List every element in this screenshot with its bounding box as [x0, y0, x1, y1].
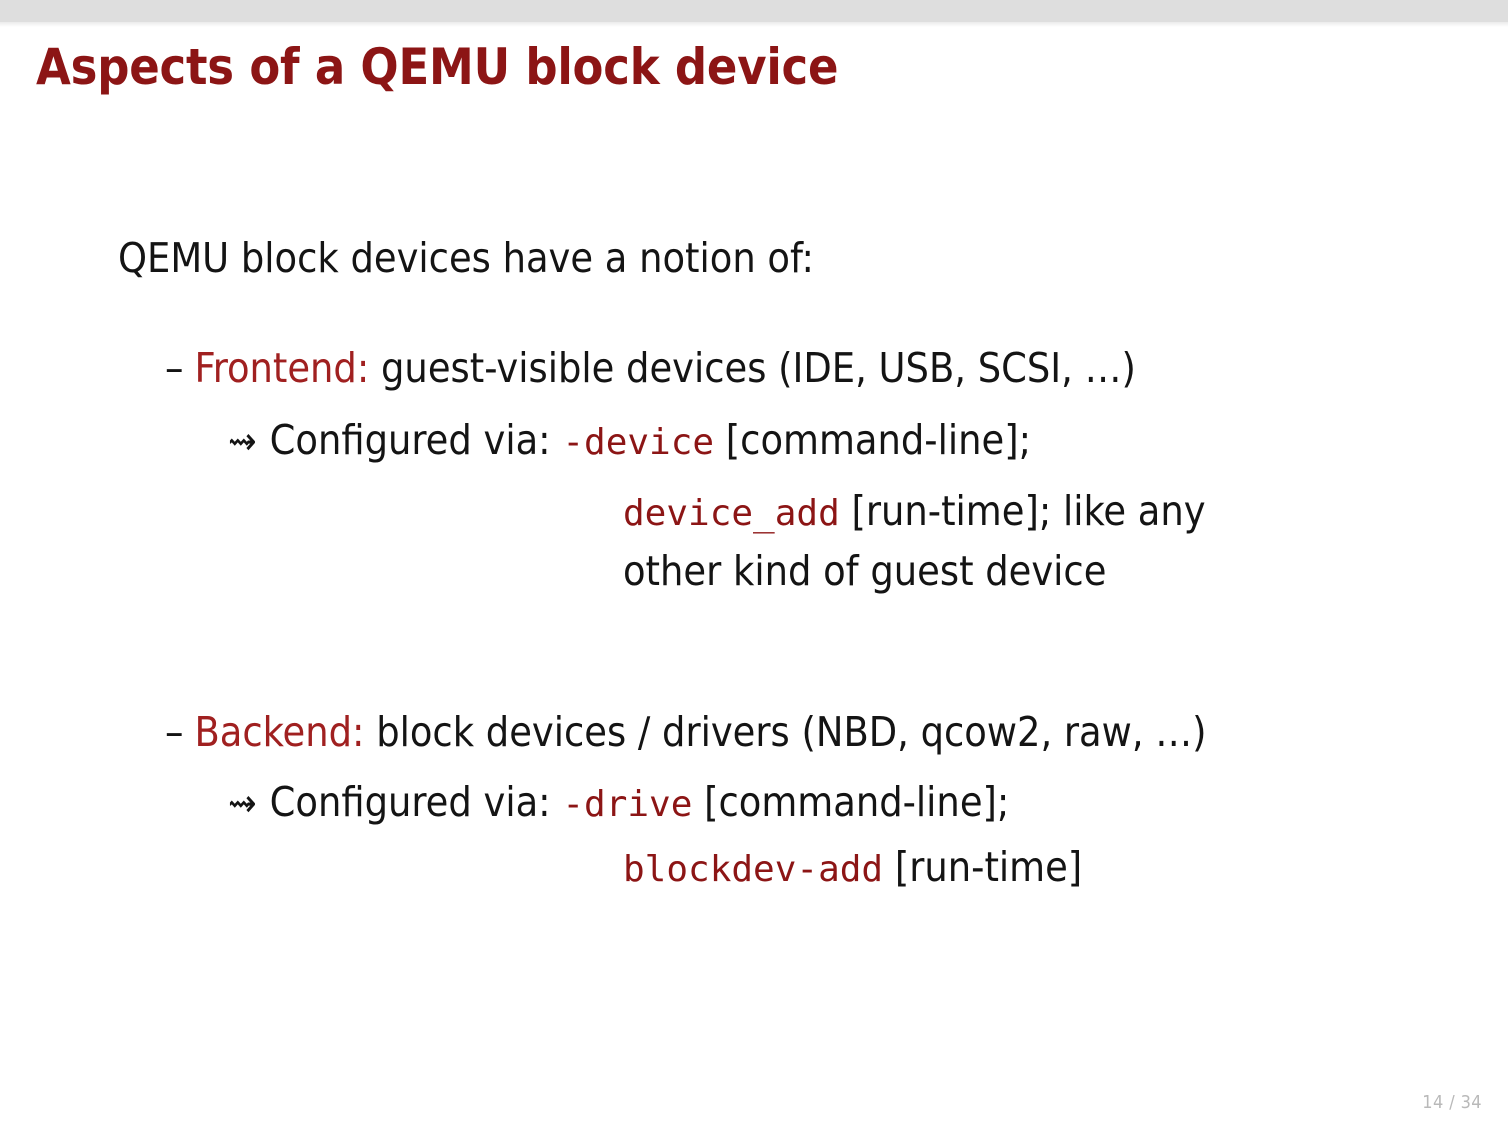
sub-bullet-tail-backend: [command-line];: [704, 778, 1009, 826]
code-blockdev-add: blockdev-add: [623, 849, 883, 890]
sub-bullet-lead-backend: Configured via:: [270, 778, 551, 826]
bullet-item-frontend: –Frontend: guest-visible devices (IDE, U…: [165, 348, 1136, 389]
continuation-device-add: device_add [run-time]; like any: [623, 491, 1206, 532]
dash-bullet-icon: –: [165, 348, 183, 389]
page-number: 14 / 34: [1422, 1092, 1482, 1113]
bullet-keyword-backend: Backend: [194, 708, 352, 756]
bullet-keyword-colon-backend: :: [352, 708, 364, 756]
continuation-text-blockdev-add: [run-time]: [895, 843, 1082, 891]
intro-text: QEMU block devices have a notion of:: [118, 238, 814, 279]
dash-bullet-icon: –: [165, 712, 183, 753]
bullet-keyword-colon-frontend: :: [357, 344, 369, 392]
code-device-add: device_add: [623, 493, 840, 534]
sub-bullet-tail-frontend: [command-line];: [726, 416, 1031, 464]
squiggle-arrow-icon: ⇝: [228, 784, 257, 822]
slide-body: QEMU block devices have a notion of: –Fr…: [0, 0, 1508, 1131]
continuation-blockdev-add: blockdev-add [run-time]: [623, 847, 1082, 888]
code-drive-flag: -drive: [562, 784, 692, 825]
bullet-item-backend: –Backend: block devices / drivers (NBD, …: [165, 712, 1207, 753]
bullet-description-backend: block devices / drivers (NBD, qcow2, raw…: [364, 708, 1206, 756]
continuation-text-device-add: [run-time]; like any: [851, 487, 1205, 535]
sub-bullet-frontend: ⇝Configured via: -device [command-line];: [228, 420, 1031, 461]
continuation-guest-device: other kind of guest device: [623, 551, 1106, 592]
bullet-keyword-frontend: Frontend: [194, 344, 356, 392]
bullet-description-frontend: guest-visible devices (IDE, USB, SCSI, ……: [369, 344, 1136, 392]
continuation-text-guest-device: other kind of guest device: [623, 547, 1106, 595]
sub-bullet-backend: ⇝Configured via: -drive [command-line];: [228, 782, 1009, 823]
presentation-slide: Aspects of a QEMU block device QEMU bloc…: [0, 0, 1508, 1131]
code-device-flag: -device: [562, 422, 714, 463]
sub-bullet-lead-frontend: Configured via:: [270, 416, 551, 464]
squiggle-arrow-icon: ⇝: [228, 422, 257, 460]
